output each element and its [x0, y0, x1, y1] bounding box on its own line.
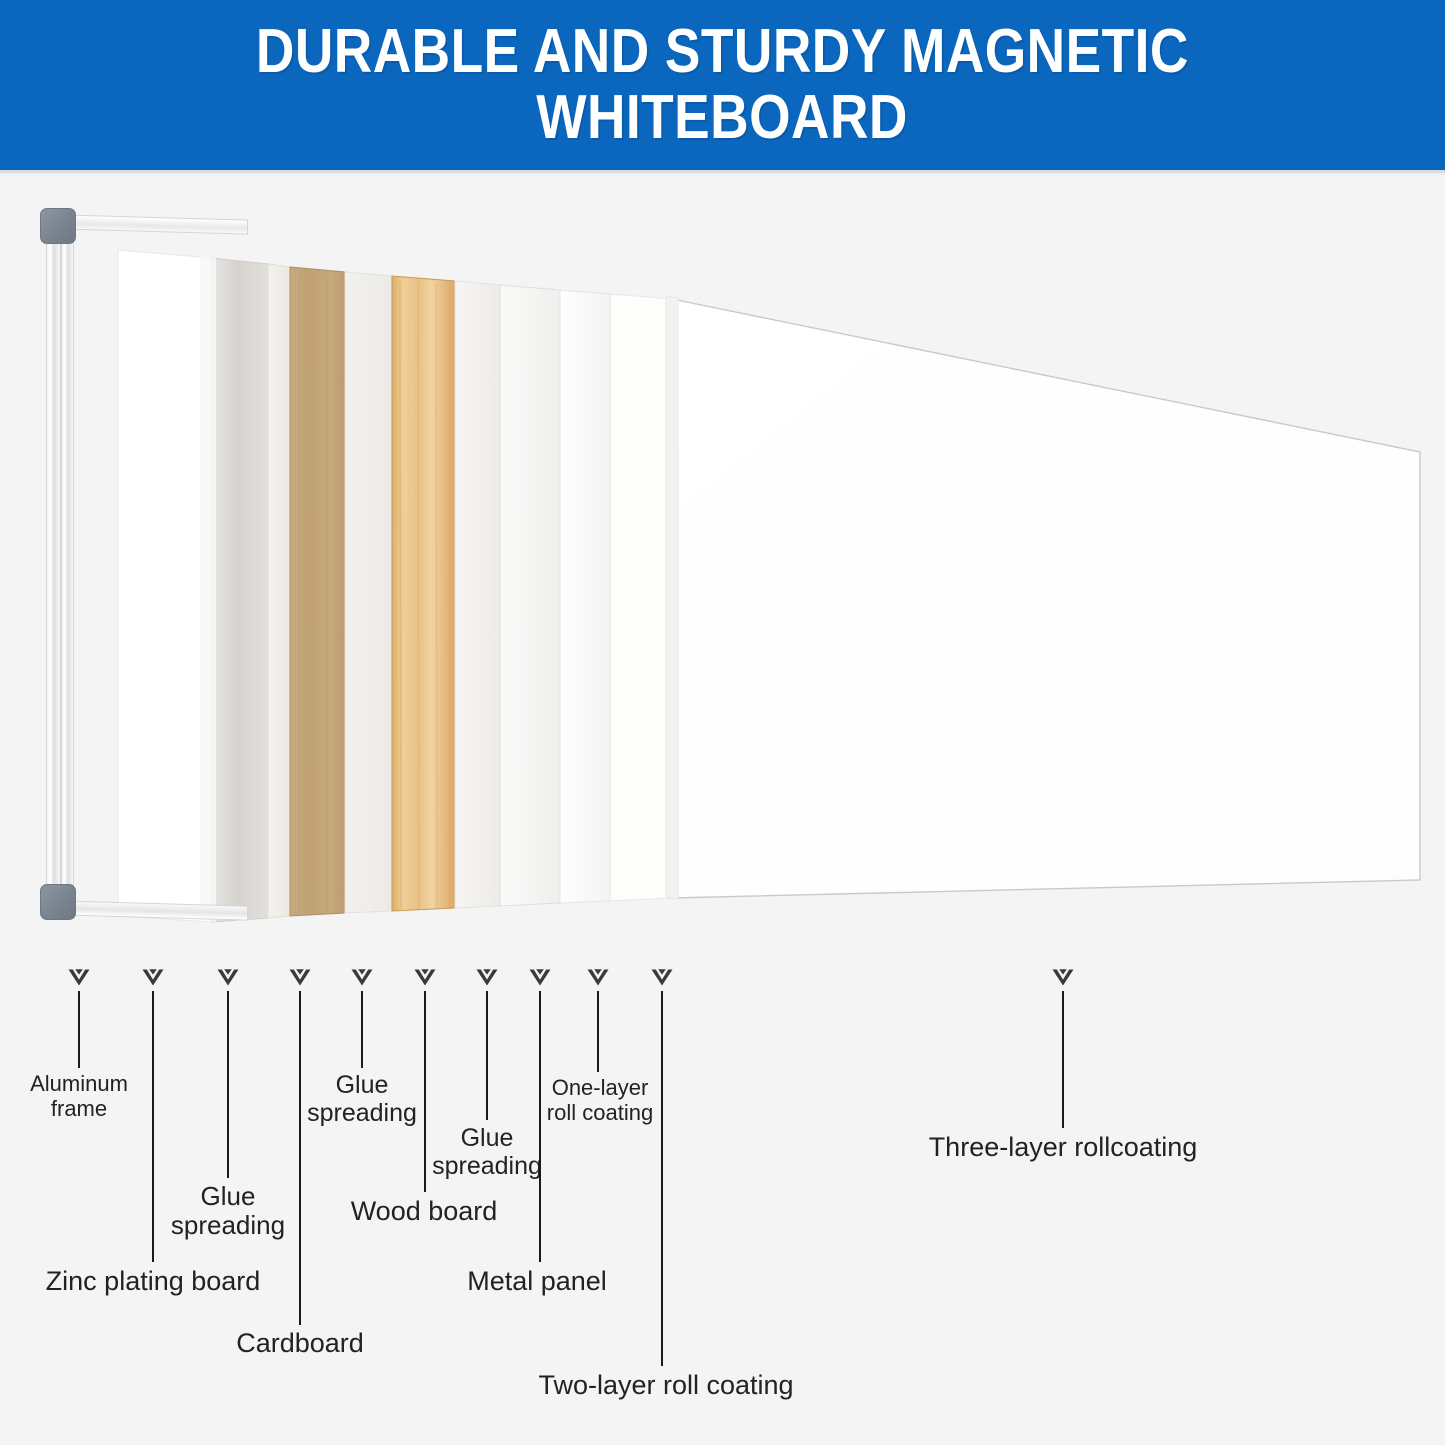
leader-line-three-layer-rollcoating	[1062, 991, 1064, 1128]
chevron-down-icon	[585, 966, 611, 990]
leader-line-one-layer-roll-coating	[597, 991, 599, 1072]
frame-left-rail-inner	[61, 226, 74, 906]
callout-label-metal-panel: Metal panel	[0, 1266, 1260, 1296]
callout-label-wood-board: Wood board	[0, 1196, 1147, 1226]
callout-label-two-layer-roll-coating: Two-layer roll coating	[0, 1370, 1389, 1400]
header-title-line-2: WHITEBOARD	[537, 85, 909, 151]
chevron-down-icon	[66, 966, 92, 990]
leader-line-two-layer-roll-coating	[661, 991, 663, 1366]
chevron-down-icon	[1050, 966, 1076, 990]
frame-corner-cap-top-left	[40, 208, 76, 244]
chevron-down-icon	[349, 966, 375, 990]
aluminum-frame-assembly	[40, 208, 250, 920]
chevron-down-icon	[412, 966, 438, 990]
frame-bottom-rail	[46, 900, 248, 921]
callout-label-cardboard: Cardboard	[0, 1328, 1023, 1358]
frame-corner-cap-bottom-left	[40, 884, 76, 920]
frame-top-rail	[46, 214, 248, 235]
chevron-down-icon	[649, 966, 675, 990]
chevron-down-icon	[287, 966, 313, 990]
leader-line-metal-panel	[539, 991, 541, 1262]
chevron-down-icon	[527, 966, 553, 990]
callout-label-three-layer-rollcoating: Three-layer rollcoating	[341, 1132, 1445, 1162]
exploded-diagram	[0, 180, 1445, 970]
chevron-down-icon	[140, 966, 166, 990]
header-title-line-1: DURABLE AND STURDY MAGNETIC	[256, 19, 1189, 85]
header-banner: DURABLE AND STURDY MAGNETIC WHITEBOARD	[0, 0, 1445, 170]
chevron-down-icon	[474, 966, 500, 990]
header-divider-secondary	[0, 173, 1445, 175]
frame-left-rail-outer	[46, 220, 61, 910]
leader-line-aluminum-frame	[78, 991, 80, 1068]
infographic-page: DURABLE AND STURDY MAGNETIC WHITEBOARD	[0, 0, 1445, 1445]
chevron-down-icon	[215, 966, 241, 990]
leader-line-glue-spreading-2	[361, 991, 363, 1068]
